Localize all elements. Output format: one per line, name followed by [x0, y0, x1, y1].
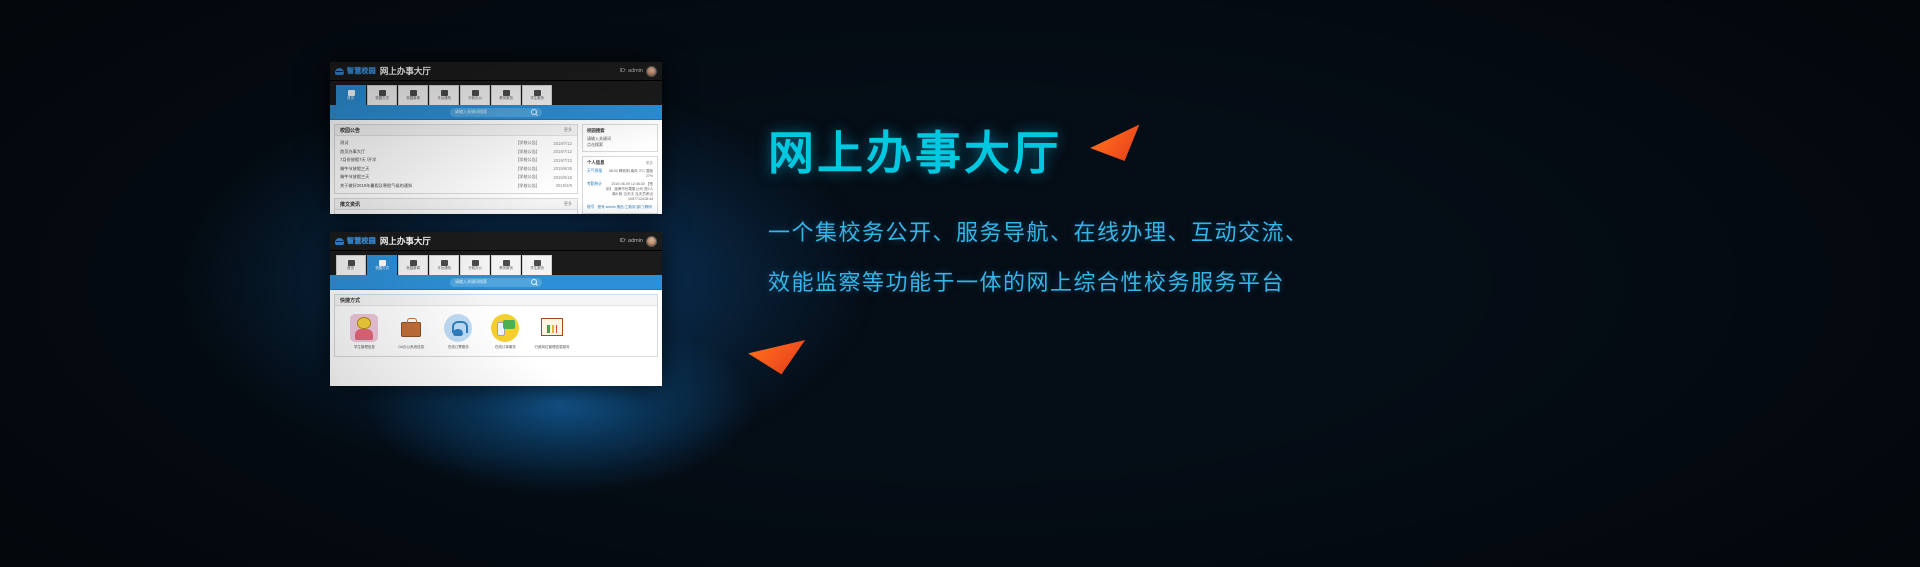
news-category: [学校公告]: [518, 174, 546, 180]
news-category: [学校公告]: [518, 157, 546, 163]
tab-notice-bottom[interactable]: 平台通知: [429, 255, 459, 275]
window-titlebar-bottom: 智慧校园 网上办事大厅 ID: admin: [330, 232, 662, 251]
search-bar-bottom: 请输入关键词搜索: [330, 275, 662, 290]
nav-tabs-bottom: 首页 快捷方式 校园新闻 平台通知 行政办公 教务服务 学生服务: [330, 251, 662, 275]
news-category: [学校公告]: [518, 149, 546, 155]
row-label: 天气预报: [587, 169, 602, 174]
tab-label: 教务服务: [499, 97, 513, 100]
news-date: 2019/6/18: [546, 175, 572, 180]
search-action[interactable]: 点击搜索: [587, 142, 653, 148]
tab-label: 学生服务: [530, 97, 544, 100]
panel-title: 个人信息: [587, 160, 605, 166]
promo-subtitle-line-1: 一个集校务公开、服务导航、在线办理、互动交流、: [768, 209, 1528, 259]
tab-news-top[interactable]: 校园新闻: [398, 85, 428, 105]
tab-label: 校园新闻: [406, 97, 420, 100]
user-area-bottom[interactable]: ID: admin: [619, 236, 657, 247]
notice-panel-header: 校园公告 更多: [335, 125, 577, 136]
panel-title: 校园公告: [340, 127, 360, 134]
list-item[interactable]: 置顶 第山滨江-中餐山北方 教育中心进步 3-1教育自治开发区图基础积 [学校开…: [340, 213, 572, 214]
tab-label: 校园新闻: [406, 267, 420, 270]
list-item[interactable]: 首页办事大厅 [学校公告] 2019/7/12: [340, 148, 572, 157]
tab-admin-top[interactable]: 行政办公: [460, 85, 490, 105]
news-date: 2019/7/12: [546, 158, 572, 163]
shortcut-item-oa[interactable]: OA办公系统信息: [392, 314, 430, 350]
news-date: 2019/7/12: [546, 149, 572, 154]
school-logo-icon: [335, 238, 344, 245]
panel-title: 推文资讯: [340, 201, 360, 208]
main-column-top: 校园公告 更多 测试 [学校公告] 2019/7/12 首页办事大厅 [学校公告…: [334, 124, 578, 214]
personal-info-box: 个人信息 更多 天气预报 08:00 晴转阴,南风 3°C 湿度 27% 考勤统…: [582, 156, 658, 214]
news-date: 2019/6/28: [546, 166, 572, 171]
user-id-label-bottom: ID: admin: [619, 238, 643, 244]
headset-icon: [444, 314, 472, 342]
search-input-bottom[interactable]: 请输入关键词搜索: [450, 278, 542, 287]
document-panel-header: 推文资讯 更多: [335, 199, 577, 210]
tab-label: 行政办公: [468, 267, 482, 270]
news-title: 7月份放假7天 /开学: [340, 157, 518, 163]
row-value: 08:00 晴转阴,南风 3°C 湿度 27%: [605, 169, 653, 179]
shortcut-label: 在线订票服务: [448, 345, 469, 350]
list-item[interactable]: 测试 [学校公告] 2019/7/12: [340, 139, 572, 148]
search-placeholder: 请输入关键词搜索: [455, 109, 487, 115]
user-id-label-top: ID: admin: [619, 68, 643, 74]
search-input-top[interactable]: 请输入关键词搜索: [450, 108, 542, 117]
notice-panel: 校园公告 更多 测试 [学校公告] 2019/7/12 首页办事大厅 [学校公告…: [334, 124, 578, 194]
nav-tabs-top: 首页 快捷方式 校园新闻 平台通知 行政办公 教务服务 学生服务: [330, 81, 662, 105]
news-category: [学校公告]: [518, 166, 546, 172]
list-item[interactable]: 关于做好2019年暑假及寒假气候的通知 [学校公告] 2019/3/9: [340, 182, 572, 191]
tab-notice-top[interactable]: 平台通知: [429, 85, 459, 105]
arrow-marker-lower: [747, 336, 805, 376]
more-link[interactable]: 更多: [564, 201, 572, 207]
tab-academic-top[interactable]: 教务服务: [491, 85, 521, 105]
more-link[interactable]: 更多: [564, 127, 572, 133]
tab-shortcut-bottom[interactable]: 快捷方式: [367, 255, 397, 275]
promo-text-block: 网上办事大厅 一个集校务公开、服务导航、在线办理、互动交流、 效能监察等功能于一…: [768, 128, 1528, 309]
shortcut-label: 在线订单服务: [495, 345, 516, 350]
shortcut-item-order[interactable]: 在线订单服务: [486, 314, 524, 350]
row-value: 2019-06-09 12:46:30 【签到】 淄博市世果集公司 进9人 离8…: [605, 182, 653, 202]
window-title-bottom: 网上办事大厅: [380, 235, 431, 247]
logo-text-top: 智慧校园: [347, 66, 376, 76]
window-title-top: 网上办事大厅: [380, 65, 431, 77]
window-body-bottom: 快捷方式 学生管理信息 OA办公系统信息 在线订票服务 在线订单服务: [330, 290, 662, 361]
promo-subtitle-line-2: 效能监察等功能于一体的网上综合性校务服务平台: [768, 259, 1528, 309]
avatar[interactable]: [646, 236, 657, 247]
tab-academic-bottom[interactable]: 教务服务: [491, 255, 521, 275]
tab-label: 行政办公: [468, 97, 482, 100]
news-title: 端午节放假三天: [340, 174, 518, 180]
shortcut-item-admin[interactable]: 行政岗位管理信息服务: [533, 314, 571, 350]
shortcut-panel-header: 快捷方式: [335, 295, 657, 306]
student-girl-icon: [350, 314, 378, 342]
window-titlebar-top: 智慧校园 网上办事大厅 ID: admin: [330, 62, 662, 81]
search-icon[interactable]: [531, 279, 537, 285]
list-item[interactable]: 端午节放假三天 [学校公告] 2019/6/18: [340, 173, 572, 182]
message-phone-icon: [491, 314, 519, 342]
search-icon[interactable]: [531, 109, 537, 115]
briefcase-icon: [397, 314, 425, 342]
chart-board-icon: [538, 314, 566, 342]
tab-shortcut-top[interactable]: 快捷方式: [367, 85, 397, 105]
arrow-icon: [747, 336, 805, 376]
panel-title: 快捷方式: [340, 297, 360, 304]
school-logo-icon: [335, 68, 344, 75]
user-area-top[interactable]: ID: admin: [619, 66, 657, 77]
tab-student-top[interactable]: 学生服务: [522, 85, 552, 105]
tab-label: 教务服务: [499, 267, 513, 270]
shortcut-label: OA办公系统信息: [398, 345, 424, 350]
tab-label: 平台通知: [437, 267, 451, 270]
tab-label: 学生服务: [530, 267, 544, 270]
browser-mockup-shortcuts: 智慧校园 网上办事大厅 ID: admin 首页 快捷方式 校园新闻 平台通知 …: [330, 232, 662, 386]
panel-title: 校园搜索: [587, 128, 605, 134]
window-body-top: 校园公告 更多 测试 [学校公告] 2019/7/12 首页办事大厅 [学校公告…: [330, 120, 662, 214]
search-bar-top: 请输入关键词搜索: [330, 105, 662, 120]
tab-label: 平台通知: [437, 97, 451, 100]
list-item[interactable]: 7月份放假7天 /开学 [学校公告] 2019/7/12: [340, 156, 572, 165]
notice-panel-body: 测试 [学校公告] 2019/7/12 首页办事大厅 [学校公告] 2019/7…: [335, 136, 577, 193]
document-panel: 推文资讯 更多 置顶 第山滨江-中餐山北方 教育中心进步 3-1教育自治开发区图…: [334, 198, 578, 214]
shortcut-label: 学生管理信息: [354, 345, 375, 350]
avatar[interactable]: [646, 66, 657, 77]
news-category: [学校公告]: [518, 140, 546, 146]
row-label: 考勤统计: [587, 182, 602, 187]
shortcut-label: 行政岗位管理信息服务: [535, 345, 570, 350]
tab-label: 首页: [348, 97, 355, 100]
browser-mockup-home: 智慧校园 网上办事大厅 ID: admin 首页 快捷方式 校园新闻 平台通知 …: [330, 62, 662, 214]
row-label: 账号: [587, 205, 595, 210]
logo-text-bottom: 智慧校园: [347, 236, 376, 246]
side-column-top: 校园搜索 请输入关键词 点击搜索 个人信息 更多 天气预报 08:00 晴转阴,…: [582, 124, 658, 214]
shortcut-panel: 快捷方式 学生管理信息 OA办公系统信息 在线订票服务 在线订单服务: [334, 294, 658, 357]
more-link[interactable]: 更多: [646, 161, 653, 166]
row-value: 账号:admin 角色:工勤岗 部门:教研: [598, 205, 652, 210]
tab-label: 首页: [348, 267, 355, 270]
news-category: [学校公告]: [518, 183, 546, 189]
shortcut-item-ticket[interactable]: 在线订票服务: [439, 314, 477, 350]
news-date: 2019/7/12: [546, 141, 572, 146]
info-row-account: 账号 账号:admin 角色:工勤岗 部门:教研: [587, 205, 653, 210]
news-title: 关于做好2019年暑假及寒假气候的通知: [340, 183, 518, 189]
news-title: 测试: [340, 140, 518, 146]
shortcut-item-student[interactable]: 学生管理信息: [345, 314, 383, 350]
campus-search-box: 校园搜索 请输入关键词 点击搜索: [582, 124, 658, 152]
tab-student-bottom[interactable]: 学生服务: [522, 255, 552, 275]
news-title: 首页办事大厅: [340, 149, 518, 155]
tab-news-bottom[interactable]: 校园新闻: [398, 255, 428, 275]
page-title: 网上办事大厅: [768, 128, 1528, 179]
side-panel-title: 校园搜索: [587, 128, 653, 134]
shortcut-grid: 学生管理信息 OA办公系统信息 在线订票服务 在线订单服务 行政岗位管理信息服务: [335, 306, 657, 356]
side-panel-title: 个人信息 更多: [587, 160, 653, 166]
tab-home-top[interactable]: 首页: [336, 85, 366, 105]
news-date: 2019/3/9: [546, 183, 572, 188]
search-placeholder: 请输入关键词搜索: [455, 279, 487, 285]
tab-home-bottom[interactable]: 首页: [336, 255, 366, 275]
news-title: 端午节放假三天: [340, 166, 518, 172]
tab-label: 快捷方式: [375, 267, 389, 270]
document-panel-body: 置顶 第山滨江-中餐山北方 教育中心进步 3-1教育自治开发区图基础积 [学校开…: [335, 210, 577, 214]
tab-admin-bottom[interactable]: 行政办公: [460, 255, 490, 275]
tab-label: 快捷方式: [375, 97, 389, 100]
promo-subtitle: 一个集校务公开、服务导航、在线办理、互动交流、 效能监察等功能于一体的网上综合性…: [768, 209, 1528, 309]
info-row-weather: 天气预报 08:00 晴转阴,南风 3°C 湿度 27%: [587, 169, 653, 179]
info-row-attendance: 考勤统计 2019-06-09 12:46:30 【签到】 淄博市世果集公司 进…: [587, 182, 653, 202]
list-item[interactable]: 端午节放假三天 [学校公告] 2019/6/28: [340, 165, 572, 174]
